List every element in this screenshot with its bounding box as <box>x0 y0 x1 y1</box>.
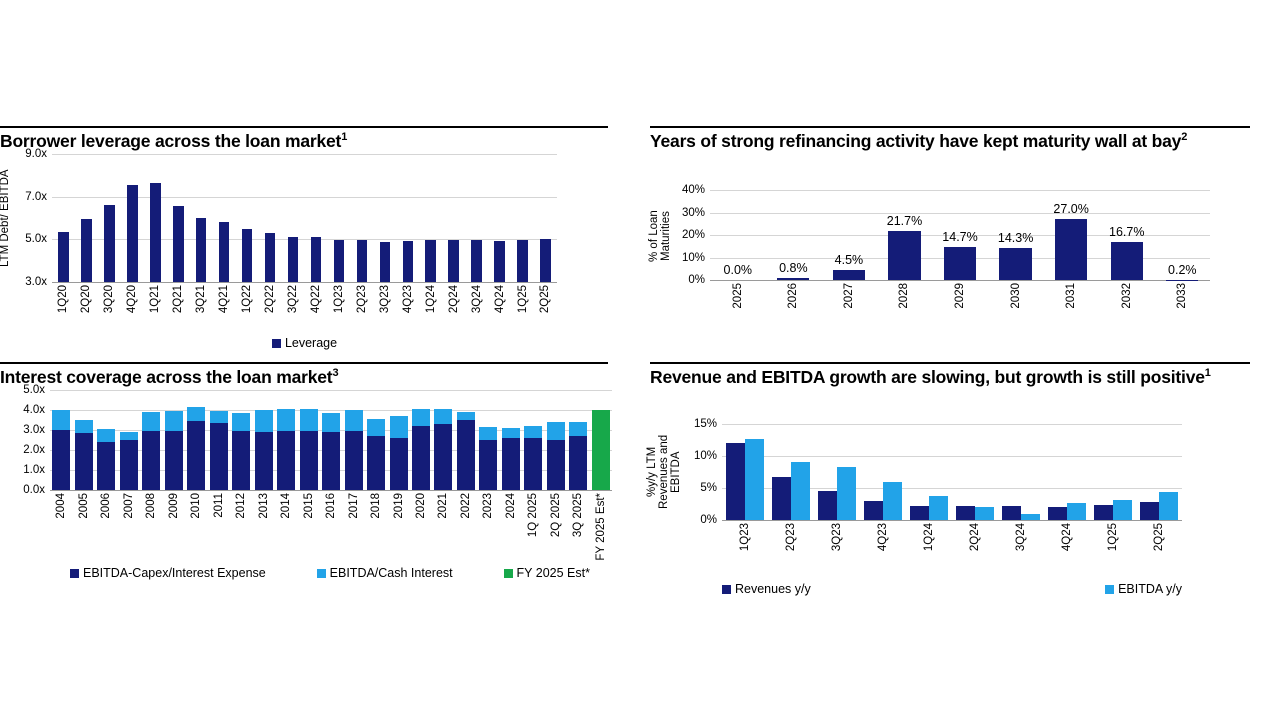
axis-tick-label-y: 20% <box>682 229 705 241</box>
bar-slot <box>72 390 94 490</box>
bar-slot <box>1090 424 1136 520</box>
bar-slot <box>373 154 396 282</box>
bar-segment <box>929 496 948 520</box>
bar-slot <box>396 154 419 282</box>
axis-label-x-cell: 2031 <box>1043 283 1099 331</box>
bar-segment <box>232 431 250 490</box>
axis-label-x: 2020 <box>415 493 427 519</box>
axis-label-x-cell: 2Q24 <box>952 523 998 567</box>
page-title-revenue-ebitda-growth: Revenue and EBITDA growth are slowing, b… <box>650 367 1280 387</box>
axis-tick-label-y: 0.0x <box>23 484 45 496</box>
axis-ticks-y: 0.0x1.0x2.0x3.0x4.0x5.0x <box>0 390 45 490</box>
axis-tick-label-x: 2013 <box>258 493 270 519</box>
bar-slot <box>410 390 432 490</box>
legend-swatch <box>70 569 79 578</box>
bar-group <box>818 424 856 520</box>
axis-label-x: 2029 <box>954 283 966 309</box>
axis-tick-label-y: 1.0x <box>23 464 45 476</box>
bar-segment <box>300 431 318 490</box>
bar-slot: 14.7% <box>932 190 988 280</box>
bar <box>457 412 475 490</box>
legend-label: EBITDA/Cash Interest <box>330 566 453 580</box>
bar-data-label: 0.0% <box>724 263 753 277</box>
axis-label-x-cell: 3Q23 <box>373 285 396 331</box>
bar-slot <box>252 390 274 490</box>
bar-segment <box>277 431 295 490</box>
axis-labels-x: 202520262027202820292030203120322033 <box>710 283 1210 331</box>
axis-label-x-cell: 2016 <box>320 493 342 565</box>
axis-tick-label-x: 2028 <box>898 283 910 309</box>
axis-label-x: 2019 <box>393 493 405 519</box>
legend-item[interactable]: FY 2025 Est* <box>504 566 590 580</box>
bar <box>592 410 610 490</box>
bar-segment <box>1094 505 1113 520</box>
axis-tick-label-x: 2031 <box>1065 283 1077 309</box>
legend-swatch <box>1105 585 1114 594</box>
chart-borrower-leverage: LTM Debt/ EBITDA3.0x5.0x7.0x9.0x1Q202Q20… <box>0 148 640 356</box>
bar <box>412 409 430 490</box>
bar-segment <box>524 426 542 438</box>
bar <box>52 410 70 490</box>
axis-label-x: 2Q24 <box>448 285 460 313</box>
bar-segment <box>818 491 837 520</box>
axis-label-x: 2013 <box>258 493 270 519</box>
axis-label-x: 3Q22 <box>287 285 299 313</box>
plot-area: 0.0%0.8%4.5%21.7%14.7%14.3%27.0%16.7%0.2… <box>710 190 1210 280</box>
axis-tick-label-x: 2010 <box>190 493 202 519</box>
axis-tick-label-x: 3Q23 <box>831 523 843 551</box>
axis-tick-label-x: 1Q 2025 <box>527 493 539 537</box>
bar <box>944 247 976 280</box>
legend-item[interactable]: EBITDA y/y <box>1105 582 1182 596</box>
legend-label: Revenues y/y <box>735 582 811 596</box>
axis-tick-label-y: 10% <box>694 450 717 462</box>
axis-tick-label-y: 7.0x <box>25 191 47 203</box>
panel-divider-rule <box>0 126 608 128</box>
bar <box>120 432 138 490</box>
axis-tick-label-y: 3.0x <box>23 424 45 436</box>
axis-label-x-cell: 2007 <box>117 493 139 565</box>
title-footnote-marker: 2 <box>1181 131 1187 143</box>
panel-divider-rule <box>650 362 1250 364</box>
legend-label: FY 2025 Est* <box>517 566 590 580</box>
axis-label-x-cell: 2Q22 <box>259 285 282 331</box>
bar-segment <box>502 428 520 438</box>
legend-item[interactable]: EBITDA/Cash Interest <box>317 566 453 580</box>
bar-slot: 0.0% <box>710 190 766 280</box>
bar-slot <box>465 154 488 282</box>
legend-swatch <box>272 339 281 348</box>
axis-label-x-cell: 2026 <box>766 283 822 331</box>
bar-segment <box>75 420 93 433</box>
axis-label-x-cell: 2018 <box>365 493 387 565</box>
bar-segment <box>52 410 70 430</box>
bar-segment <box>165 431 183 490</box>
bar-slot <box>52 154 75 282</box>
axis-tick-label-x: 2012 <box>235 493 247 519</box>
bar-segment <box>367 419 385 436</box>
axis-label-x: 2012 <box>235 493 247 519</box>
axis-label-x-cell: FY 2025 Est* <box>590 493 612 565</box>
axis-label-x: 2Q21 <box>172 285 184 313</box>
legend-item[interactable]: Revenues y/y <box>722 582 811 596</box>
bars-container <box>52 154 557 282</box>
bar-segment <box>210 411 228 424</box>
axis-label-x-cell: 2008 <box>140 493 162 565</box>
gridline <box>52 282 557 283</box>
axis-tick-label-x: 2020 <box>415 493 427 519</box>
axis-tick-label-x: 2027 <box>843 283 855 309</box>
bar <box>448 240 459 282</box>
bar-slot <box>185 390 207 490</box>
bar-segment <box>75 433 93 490</box>
axis-label-x-cell: 1Q24 <box>906 523 952 567</box>
bar-slot <box>140 390 162 490</box>
bar-segment <box>1067 503 1086 520</box>
bar-segment <box>524 438 542 490</box>
axis-label-x: 3Q23 <box>831 523 843 551</box>
axis-label-x: 1Q 2025 <box>527 493 539 537</box>
legend-item[interactable]: EBITDA-Capex/Interest Expense <box>70 566 266 580</box>
axis-label-x: 1Q25 <box>1107 523 1119 551</box>
axis-label-x: 1Q23 <box>333 285 345 313</box>
legend-label: EBITDA-Capex/Interest Expense <box>83 566 266 580</box>
bar-slot <box>190 154 213 282</box>
bar-data-label: 21.7% <box>887 214 922 228</box>
axis-tick-label-x: 3Q 2025 <box>572 493 584 537</box>
bar-segment <box>345 410 363 431</box>
bar-slot <box>545 390 567 490</box>
bar-slot <box>522 390 544 490</box>
axis-label-x-cell: 1Q25 <box>1090 523 1136 567</box>
panel-borrower-leverage: Borrower leverage across the loan market… <box>0 126 640 356</box>
bar-segment <box>142 412 160 430</box>
axis-labels-x: 1Q202Q203Q204Q201Q212Q213Q214Q211Q222Q22… <box>52 285 557 331</box>
axis-tick-label-y: 0% <box>700 514 717 526</box>
axis-ticks-y: 0%5%10%15% <box>650 424 717 520</box>
bar <box>380 242 391 282</box>
axis-tick-label-y: 0% <box>688 274 705 286</box>
bar-data-label: 4.5% <box>835 253 864 267</box>
plot-area <box>52 154 557 282</box>
axis-label-x-cell: 4Q24 <box>488 285 511 331</box>
bar-segment <box>479 427 497 440</box>
axis-tick-label-x: 3Q20 <box>103 285 115 313</box>
bar <box>81 219 92 282</box>
axis-label-x: 2009 <box>168 493 180 519</box>
plot-area <box>50 390 612 490</box>
axis-tick-label-x: 2Q25 <box>1153 523 1165 551</box>
axis-label-x-cell: 4Q23 <box>860 523 906 567</box>
bar-data-label: 0.8% <box>779 261 808 275</box>
bar-segment <box>232 413 250 432</box>
bar-group <box>1048 424 1086 520</box>
bar-slot <box>275 390 297 490</box>
legend-swatch <box>722 585 731 594</box>
axis-tick-label-x: 2029 <box>954 283 966 309</box>
bar-segment <box>547 422 565 440</box>
axis-tick-label-x: 2008 <box>145 493 157 519</box>
bar <box>242 229 253 282</box>
axis-label-x: 2Q25 <box>539 285 551 313</box>
axis-label-x-cell: 2021 <box>432 493 454 565</box>
bar <box>265 233 276 282</box>
axis-label-x-cell: 2030 <box>988 283 1044 331</box>
axis-label-x-cell: 2019 <box>387 493 409 565</box>
legend-swatch <box>504 569 513 578</box>
axis-tick-label-x: 2011 <box>213 493 225 518</box>
axis-label-x-cell: 2027 <box>821 283 877 331</box>
bar-slot <box>419 154 442 282</box>
axis-label-x: 1Q24 <box>923 523 935 551</box>
axis-tick-label-x: 2032 <box>1121 283 1133 309</box>
bar-segment <box>1048 507 1067 520</box>
panel-interest-coverage: Interest coverage across the loan market… <box>0 362 640 592</box>
axis-tick-label-x: 1Q25 <box>517 285 529 313</box>
bar-segment <box>956 506 975 520</box>
axis-tick-label-x: 1Q23 <box>739 523 751 551</box>
axis-label-x: 2024 <box>505 493 517 519</box>
bar <box>517 240 528 282</box>
axis-tick-label-y: 5.0x <box>23 384 45 396</box>
bar-segment <box>412 426 430 490</box>
axis-label-x: 2006 <box>100 493 112 519</box>
bar-slot <box>768 424 814 520</box>
bar-segment <box>255 410 273 431</box>
bar-slot: 14.3% <box>988 190 1044 280</box>
axis-label-x: 2033 <box>1176 283 1188 309</box>
axis-label-x-cell: 2Q25 <box>534 285 557 331</box>
axis-label-x-cell: 4Q21 <box>213 285 236 331</box>
bar <box>494 241 505 282</box>
bar <box>187 407 205 490</box>
axis-label-x-cell: 2032 <box>1099 283 1155 331</box>
bar-segment <box>97 429 115 442</box>
axis-label-x: 2014 <box>280 493 292 519</box>
axis-label-x-cell: 2015 <box>297 493 319 565</box>
axis-tick-label-x: 1Q20 <box>57 285 69 313</box>
axis-tick-label-y: 5.0x <box>25 233 47 245</box>
axis-label-x-cell: 2010 <box>185 493 207 565</box>
bar <box>357 240 368 282</box>
axis-label-x: 2Q24 <box>969 523 981 551</box>
axis-label-x: 2008 <box>145 493 157 519</box>
bar-segment <box>837 467 856 520</box>
axis-labels-x: 2004200520062007200820092010201120122013… <box>50 493 612 565</box>
axis-label-x-cell: 3Q24 <box>998 523 1044 567</box>
bar <box>1055 219 1087 280</box>
bar-slot <box>722 424 768 520</box>
axis-tick-label-x: 2023 <box>482 493 494 519</box>
bar-slot <box>500 390 522 490</box>
bar <box>569 422 587 490</box>
bar-segment <box>745 439 764 520</box>
axis-tick-label-x: 1Q21 <box>149 285 161 313</box>
title-footnote-marker: 1 <box>341 131 347 143</box>
chart-legend: Leverage <box>52 336 557 350</box>
legend-item[interactable]: Leverage <box>272 336 337 350</box>
axis-label-x-cell: 2011 <box>207 493 229 565</box>
bar-data-label: 0.2% <box>1168 263 1197 277</box>
bar <box>150 183 161 282</box>
axis-label-x: 4Q21 <box>218 285 230 313</box>
axis-label-x: 4Q24 <box>1061 523 1073 551</box>
axis-tick-label-x: 2009 <box>168 493 180 519</box>
bar-slot: 16.7% <box>1099 190 1155 280</box>
axis-tick-label-x: 4Q23 <box>877 523 889 551</box>
bar-slot <box>162 390 184 490</box>
bars-container: 0.0%0.8%4.5%21.7%14.7%14.3%27.0%16.7%0.2… <box>710 190 1210 280</box>
bar-segment <box>187 407 205 421</box>
axis-label-x: 2028 <box>898 283 910 309</box>
bar-segment <box>569 422 587 436</box>
axis-label-x: 2005 <box>78 493 90 519</box>
axis-label-x: 2Q22 <box>264 285 276 313</box>
axis-label-x-cell: 2020 <box>410 493 432 565</box>
axis-label-x: 2022 <box>460 493 472 519</box>
bar-segment <box>97 442 115 490</box>
axis-label-x: 2026 <box>787 283 799 309</box>
axis-tick-label-y: 5% <box>700 482 717 494</box>
axis-label-x-cell: 4Q22 <box>304 285 327 331</box>
bar-segment <box>1002 506 1021 520</box>
axis-label-x: 3Q 2025 <box>572 493 584 537</box>
axis-tick-label-x: 4Q24 <box>494 285 506 313</box>
bar-slot <box>998 424 1044 520</box>
bar-segment <box>975 507 994 520</box>
axis-label-x-cell: 4Q24 <box>1044 523 1090 567</box>
bar-segment <box>1021 514 1040 520</box>
axis-label-x-cell: 2Q23 <box>350 285 373 331</box>
axis-tick-label-x: 2Q25 <box>539 285 551 313</box>
bar <box>1111 242 1143 280</box>
bar-segment <box>187 421 205 490</box>
chart-legend: Revenues y/yEBITDA y/y <box>722 582 1182 596</box>
axis-label-x: 1Q24 <box>425 285 437 313</box>
axis-tick-label-x: 2014 <box>280 493 292 519</box>
axis-tick-label-x: 1Q24 <box>425 285 437 313</box>
axis-label-x: 2Q25 <box>1153 523 1165 551</box>
axis-label-x-cell: 3Q21 <box>190 285 213 331</box>
axis-label-x: 4Q23 <box>402 285 414 313</box>
bar-slot <box>236 154 259 282</box>
axis-tick-label-y: 2.0x <box>23 444 45 456</box>
axis-label-x-cell: 2Q 2025 <box>545 493 567 565</box>
axis-tick-label-x: 2022 <box>460 493 472 519</box>
bar-data-label: 14.3% <box>998 231 1033 245</box>
bar-group <box>910 424 948 520</box>
axis-label-x-cell: 2Q20 <box>75 285 98 331</box>
axis-label-x-cell: 2004 <box>50 493 72 565</box>
axis-label-x: 2004 <box>55 493 67 519</box>
bar-slot <box>282 154 305 282</box>
bar-slot <box>1044 424 1090 520</box>
bars-container <box>722 424 1182 520</box>
bar <box>833 270 865 280</box>
axis-label-x: 2025 <box>732 283 744 309</box>
axis-label-x-cell: 2Q24 <box>442 285 465 331</box>
bar-slot <box>442 154 465 282</box>
axis-label-x-cell: 1Q23 <box>327 285 350 331</box>
bar <box>288 237 299 282</box>
bar-slot: 0.2% <box>1155 190 1211 280</box>
axis-label-x: 3Q23 <box>379 285 391 313</box>
chart-interest-coverage: 0.0x1.0x2.0x3.0x4.0x5.0x2004200520062007… <box>0 386 640 591</box>
bar-data-label: 14.7% <box>942 230 977 244</box>
title-text: Revenue and EBITDA growth are slowing, b… <box>650 367 1205 387</box>
bar-group <box>1140 424 1178 520</box>
bar-segment <box>300 409 318 430</box>
bar <box>502 428 520 490</box>
axis-label-x: 2021 <box>437 493 449 519</box>
bar-segment <box>592 410 610 490</box>
axis-label-x: 1Q21 <box>149 285 161 313</box>
axis-label-x: 2027 <box>843 283 855 309</box>
bar-slot <box>50 390 72 490</box>
bar <box>300 409 318 490</box>
bar-segment <box>772 477 791 520</box>
bar-slot <box>320 390 342 490</box>
title-footnote-marker: 3 <box>332 367 338 379</box>
bar-segment <box>502 438 520 490</box>
axis-label-x: 2030 <box>1010 283 1022 309</box>
axis-label-x-cell: 1Q23 <box>722 523 768 567</box>
axis-tick-label-x: 2006 <box>100 493 112 519</box>
axis-tick-label-y: 10% <box>682 252 705 264</box>
bar <box>97 429 115 490</box>
bar <box>277 409 295 490</box>
bar-segment <box>52 430 70 490</box>
chart-revenue-ebitda-growth: %y/y LTM Revenues and EBITDA0%5%10%15%1Q… <box>650 410 1280 590</box>
bar-data-label: 16.7% <box>1109 225 1144 239</box>
bar-segment <box>479 440 497 490</box>
bar-slot <box>304 154 327 282</box>
bar <box>210 411 228 490</box>
bar <box>425 240 436 282</box>
axis-label-x-cell: 2Q21 <box>167 285 190 331</box>
axis-tick-label-x: 2Q21 <box>172 285 184 313</box>
axis-label-x: 2007 <box>123 493 135 519</box>
axis-tick-label-x: 3Q23 <box>379 285 391 313</box>
bar-group <box>772 424 810 520</box>
axis-label-x-cell: 3Q20 <box>98 285 121 331</box>
axis-ticks-y: 3.0x5.0x7.0x9.0x <box>0 154 47 282</box>
bar-slot <box>567 390 589 490</box>
bar-segment <box>1140 502 1159 520</box>
bar <box>888 231 920 280</box>
axis-label-x: 2015 <box>303 493 315 519</box>
axis-label-x-cell: 2Q25 <box>1136 523 1182 567</box>
axis-tick-label-x: 2030 <box>1010 283 1022 309</box>
axis-tick-label-y: 9.0x <box>25 148 47 160</box>
bar-group <box>726 424 764 520</box>
bar <box>547 422 565 490</box>
title-footnote-marker: 1 <box>1205 367 1211 379</box>
bar-segment <box>255 432 273 490</box>
bar-slot <box>98 154 121 282</box>
axis-tick-label-x: 3Q22 <box>287 285 299 313</box>
bar <box>232 413 250 490</box>
axis-tick-label-x: 2018 <box>370 493 382 519</box>
axis-tick-label-x: 1Q23 <box>333 285 345 313</box>
bar <box>390 416 408 490</box>
bar-segment <box>457 420 475 490</box>
axis-tick-label-x: FY 2025 Est* <box>595 493 607 561</box>
axis-label-x-cell: 2005 <box>72 493 94 565</box>
bar <box>255 410 273 490</box>
bar-slot <box>860 424 906 520</box>
bar <box>165 411 183 490</box>
